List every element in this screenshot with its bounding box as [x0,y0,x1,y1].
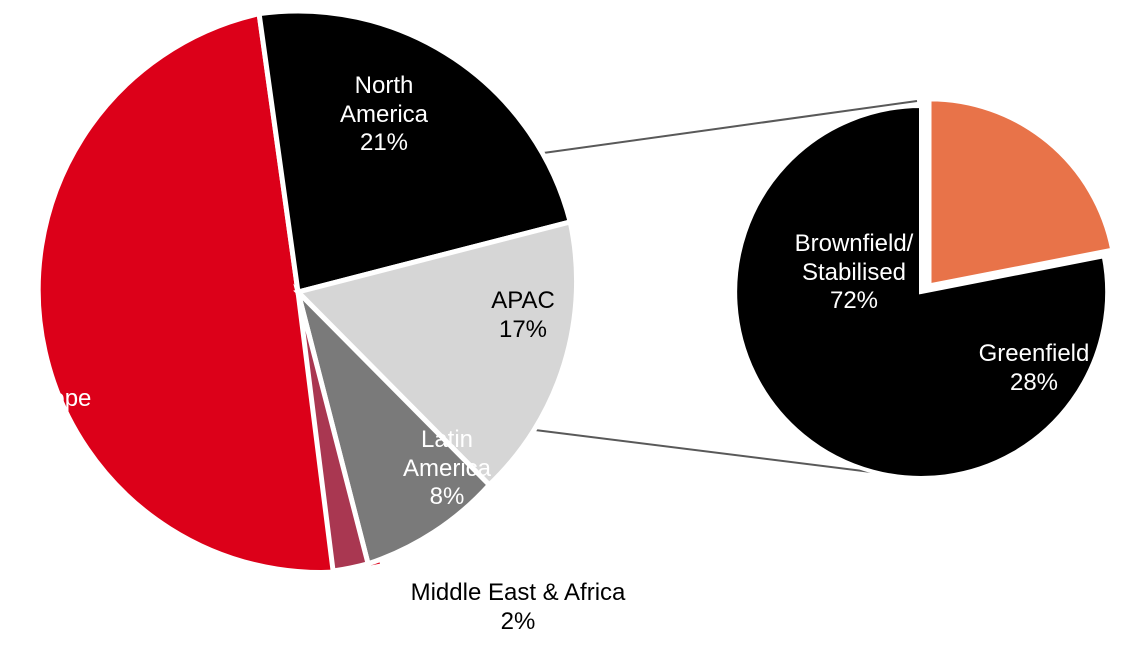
pie-chart-figure: North America21% Europe52% APAC17% Latin… [0,0,1124,617]
left-pie-group [38,11,576,573]
pie-slice-greenfield[interactable] [930,99,1113,285]
right-pie-group [735,99,1112,478]
chart-canvas [0,0,1124,617]
